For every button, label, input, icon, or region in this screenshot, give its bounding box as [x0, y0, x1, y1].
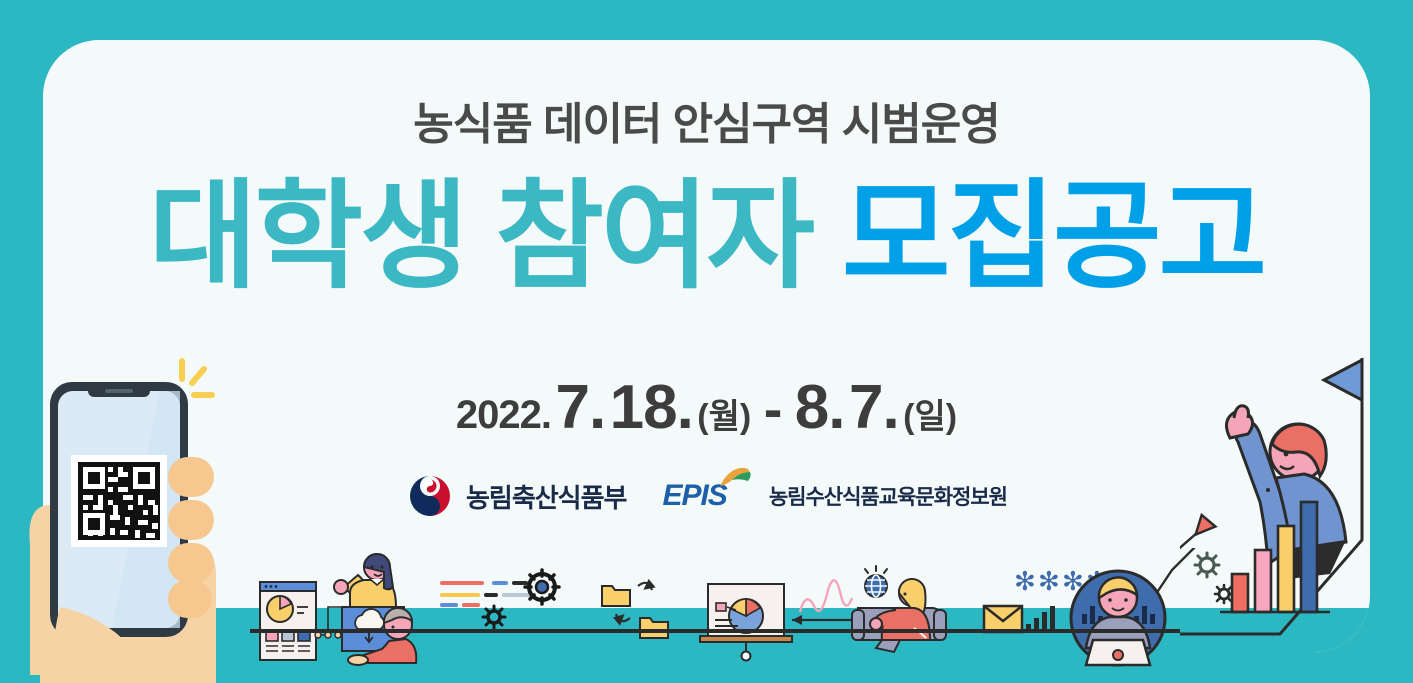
left-illustration-scene — [246, 545, 616, 683]
svg-text:✻: ✻ — [1038, 567, 1060, 597]
circular-avatar-person-at-laptop — [1071, 571, 1165, 665]
logo-row: 농림축산식품부 EPIS 농림수산식품교육문화정보원 — [0, 472, 1413, 520]
laptop-with-pie-chart — [700, 584, 792, 661]
line-segments — [442, 583, 534, 605]
korea-government-taegeuk-emblem — [406, 472, 454, 520]
upward-trend-arrow — [1180, 515, 1215, 560]
date-year: 2022. — [456, 393, 551, 437]
mid-illustration-scene — [596, 548, 956, 668]
mafra-logo: 농림축산식품부 — [406, 472, 626, 520]
date-start-dow: (월) — [697, 398, 751, 436]
date-end-month: 8. — [795, 373, 845, 442]
gear-icon — [525, 570, 559, 604]
title-part-teal: 대학생 참여자 — [149, 171, 812, 303]
epis-label: 농림수산식품교육문화정보원 — [769, 481, 1007, 511]
epis-swoosh-logo — [718, 466, 752, 488]
globe-network-icon — [865, 566, 887, 597]
epis-logo: EPIS 농림수산식품교육문화정보원 — [662, 479, 1007, 513]
gear-icon-small — [483, 606, 505, 628]
date-start-month: 7. — [555, 373, 605, 442]
poster-canvas: ✻✻ ✻✻ — [0, 0, 1413, 683]
gear-icon-small — [1215, 585, 1233, 603]
analytics-dashboard-with-pie-chart — [260, 582, 316, 660]
date-dash: - — [756, 377, 791, 440]
waving-person-in-yellow-sweater — [334, 554, 396, 607]
date-end-dow: (일) — [903, 398, 957, 436]
svg-text:✻: ✻ — [1014, 567, 1036, 597]
recruitment-period: 2022. 7. 18. (월) - 8. 7. (일) — [0, 372, 1413, 443]
mafra-label: 농림축산식품부 — [466, 478, 626, 515]
page-title: 대학생 참여자 모집공고 — [0, 178, 1413, 296]
right-illustration-scene: ✻✻ ✻✻ — [960, 548, 1210, 668]
date-start-day: 18. — [610, 373, 693, 442]
pink-wave-line — [800, 580, 852, 612]
date-end-day: 7. — [849, 373, 899, 442]
left-pointing-arrow — [792, 615, 858, 625]
poster-subtitle: 농식품 데이터 안심구역 시범운영 — [0, 88, 1413, 152]
gear-icon — [1195, 553, 1219, 577]
title-part-blue: 모집공고 — [842, 171, 1264, 303]
ground-line — [250, 629, 1180, 633]
